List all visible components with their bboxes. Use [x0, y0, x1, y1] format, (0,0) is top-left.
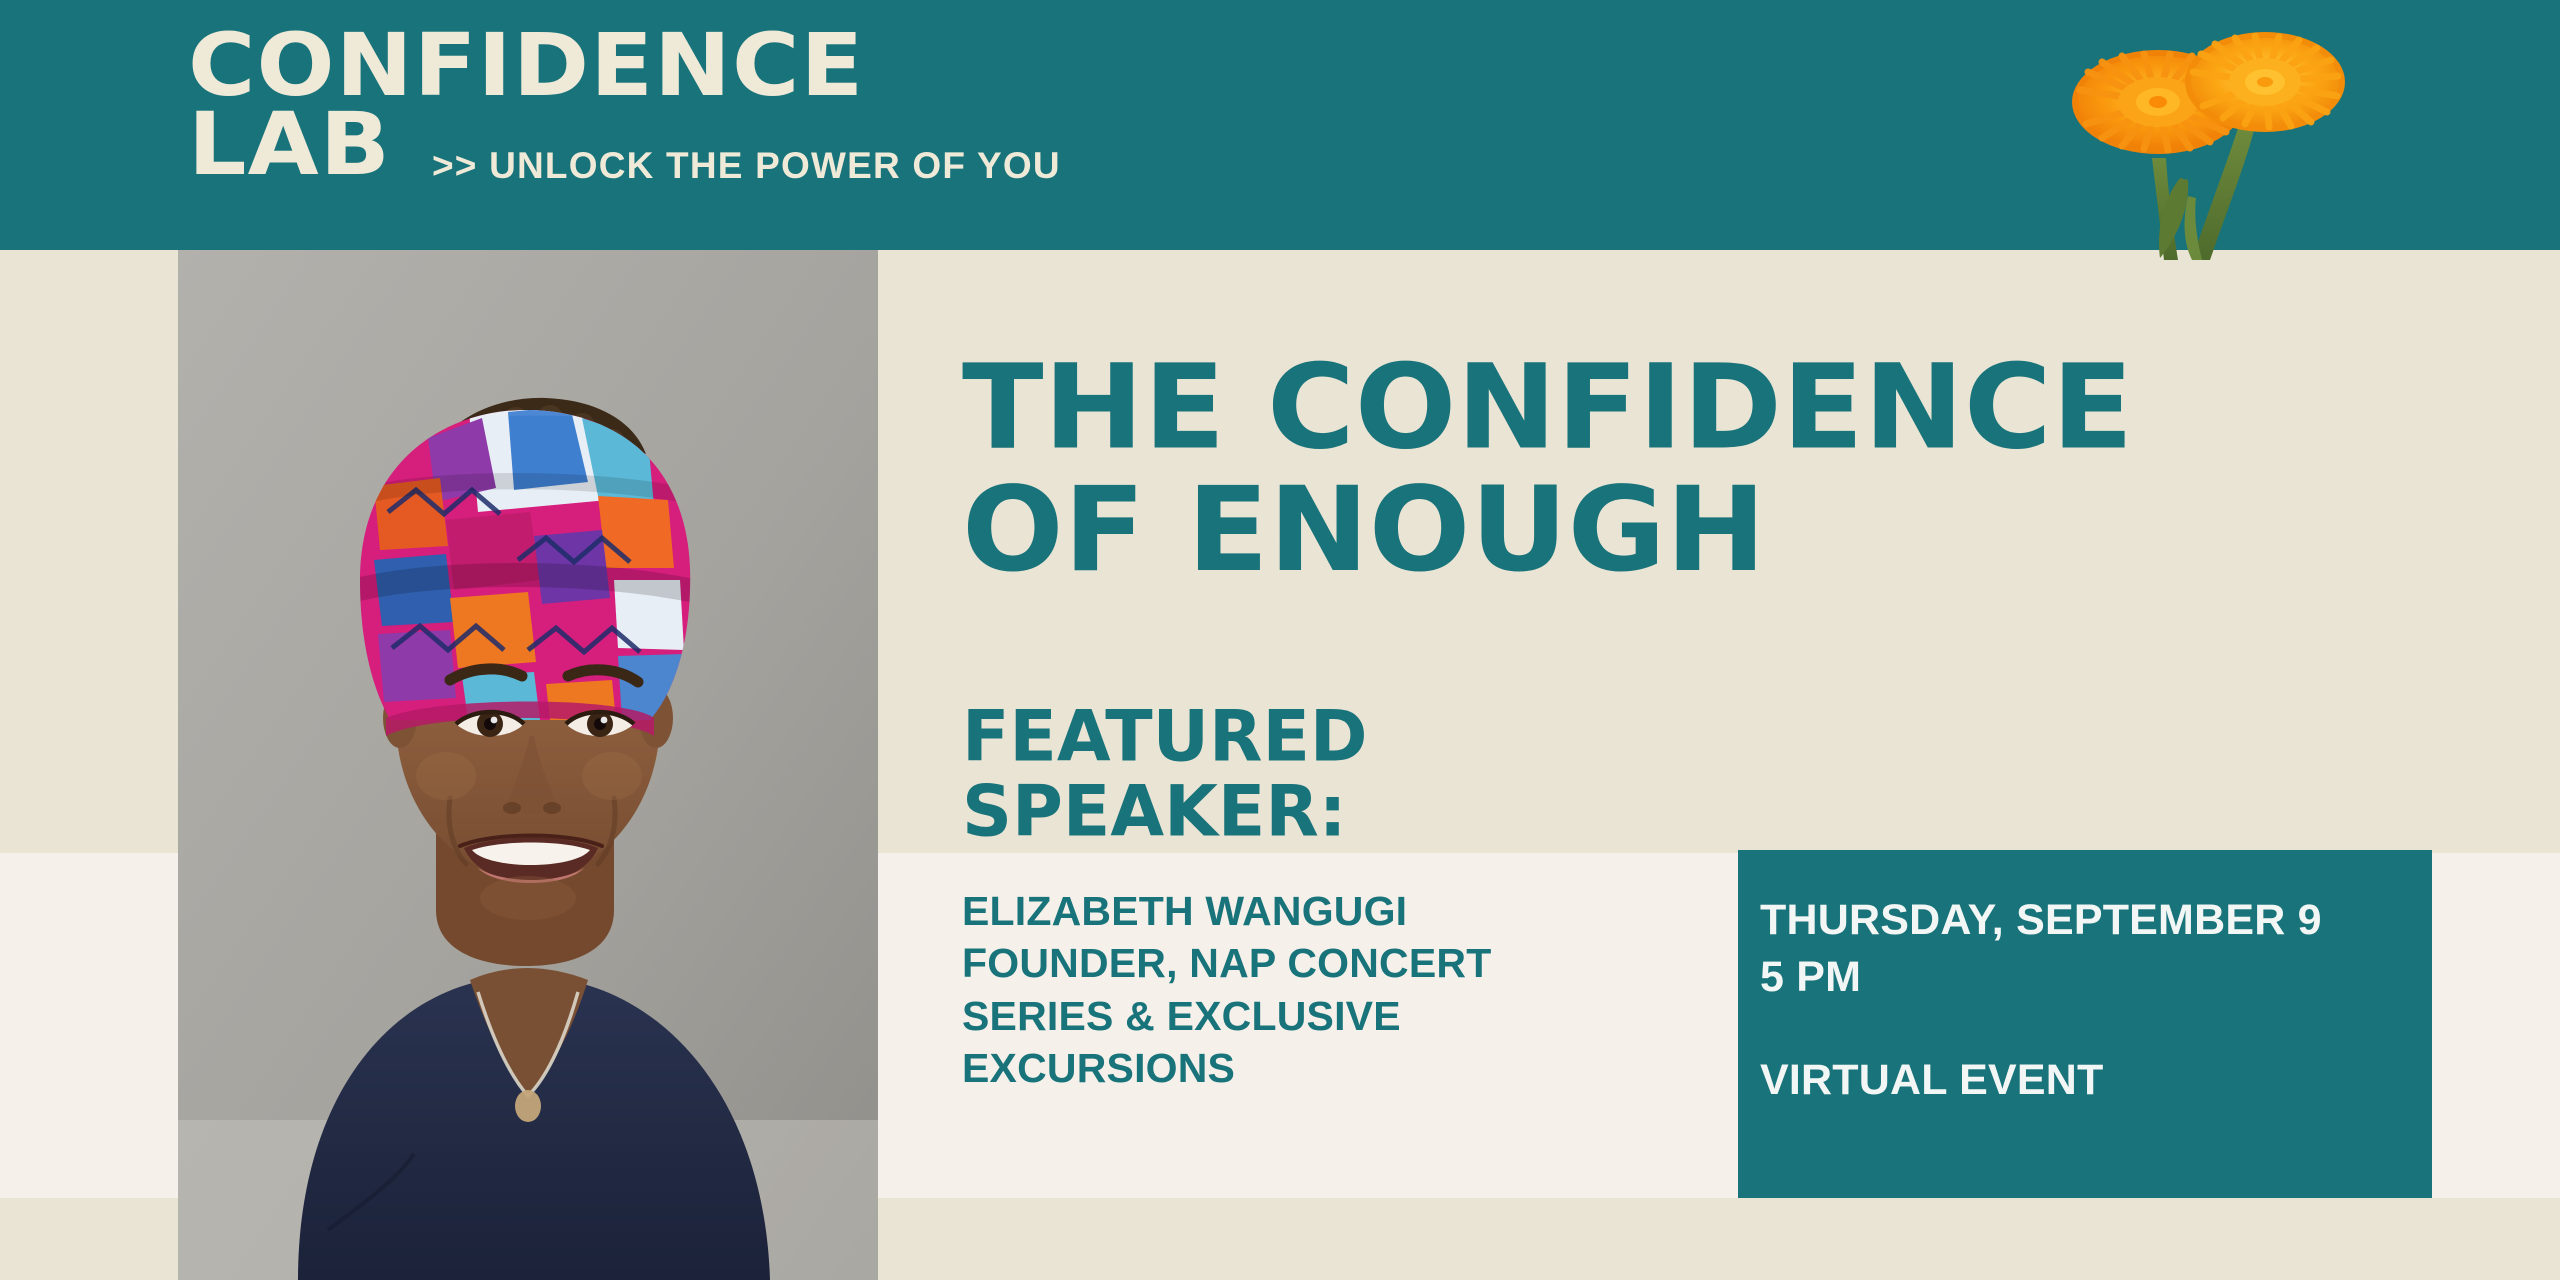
- event-time: 5 PM: [1760, 949, 2410, 1006]
- event-promo-poster: CONFIDENCE LAB >> UNLOCK THE POWER OF YO…: [0, 0, 2560, 1280]
- speaker-title-line-1: FOUNDER, NAP CONCERT: [962, 937, 1722, 989]
- header-bar: CONFIDENCE LAB >> UNLOCK THE POWER OF YO…: [0, 0, 2560, 250]
- page-title: THE CONFIDENCE OF ENOUGH: [962, 348, 2560, 590]
- event-details-box: THURSDAY, SEPTEMBER 9 5 PM VIRTUAL EVENT: [1738, 850, 2432, 1198]
- event-details-text: THURSDAY, SEPTEMBER 9 5 PM VIRTUAL EVENT: [1760, 892, 2410, 1108]
- speaker-details: ELIZABETH WANGUGI FOUNDER, NAP CONCERT S…: [962, 885, 1722, 1095]
- featured-speaker-portrait: [178, 250, 878, 1280]
- featured-speaker-heading: FEATURED SPEAKER:: [962, 700, 1970, 849]
- speaker-title-line-2: SERIES & EXCLUSIVE: [962, 990, 1722, 1042]
- event-spacer: [1760, 1006, 2410, 1052]
- featured-heading-line-2: SPEAKER:: [962, 776, 1970, 849]
- headline-line-1: THE CONFIDENCE: [962, 348, 2560, 468]
- featured-heading-line-1: FEATURED: [962, 700, 1970, 773]
- headline-line-2: OF ENOUGH: [962, 470, 2560, 590]
- event-format: VIRTUAL EVENT: [1760, 1052, 2410, 1109]
- brand-tagline: >> UNLOCK THE POWER OF YOU: [432, 145, 1061, 187]
- event-date: THURSDAY, SEPTEMBER 9: [1760, 892, 2410, 949]
- marigold-flowers-icon: [2060, 10, 2380, 260]
- speaker-name: ELIZABETH WANGUGI: [962, 885, 1722, 937]
- speaker-title-line-3: EXCURSIONS: [962, 1042, 1722, 1094]
